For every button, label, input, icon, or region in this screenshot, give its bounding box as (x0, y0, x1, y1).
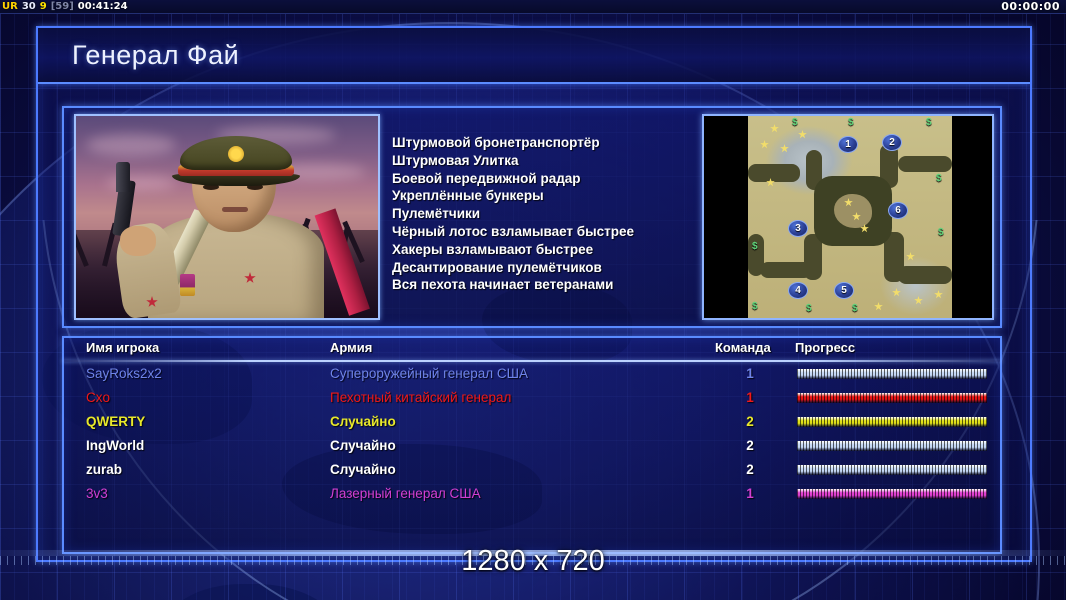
player-army: Случайно (330, 410, 396, 434)
map-start-position-1[interactable]: 1 (838, 136, 858, 153)
player-rows: SayRoks2x2Супероружейный генерал США1Cxo… (62, 362, 1002, 506)
player-name: zurab (86, 458, 122, 482)
hud-player-count: 9 (40, 0, 47, 13)
player-progress (797, 362, 987, 372)
table-row[interactable]: CxoПехотный китайский генерал1 (62, 386, 1002, 410)
player-name: QWERTY (86, 410, 145, 434)
map-start-position-4[interactable]: 4 (788, 282, 808, 299)
minimap[interactable]: $ $ $ $ $ $ $ $ $ 1 2 3 4 5 6 (702, 114, 994, 320)
table-row[interactable]: SayRoks2x2Супероружейный генерал США1 (62, 362, 1002, 386)
ability-item: Вся пехота начинает ветеранами (392, 276, 692, 294)
player-progress (797, 482, 987, 492)
player-team: 1 (735, 386, 765, 410)
column-header-player: Имя игрока (86, 340, 159, 355)
game-lobby-screen: UR 30 9 [59] 00:41:24 00:00:00 Генерал Ф… (0, 0, 1066, 600)
table-row[interactable]: QWERTYСлучайно2 (62, 410, 1002, 434)
player-progress (797, 410, 987, 420)
player-progress (797, 434, 987, 444)
ability-list: Штурмовой бронетранспортёр Штурмовая Ули… (392, 134, 692, 294)
map-start-position-6[interactable]: 6 (888, 202, 908, 219)
table-row[interactable]: IngWorldСлучайно2 (62, 434, 1002, 458)
ability-item: Укреплённые бункеры (392, 187, 692, 205)
player-name: IngWorld (86, 434, 144, 458)
page-title: Генерал Фай (72, 40, 239, 71)
player-progress (797, 458, 987, 468)
general-portrait (74, 114, 380, 320)
player-name: Cxo (86, 386, 110, 410)
ability-item: Боевой передвижной радар (392, 170, 692, 188)
player-army: Супероружейный генерал США (330, 362, 528, 386)
player-team: 2 (735, 410, 765, 434)
table-row[interactable]: zurabСлучайно2 (62, 458, 1002, 482)
title-band: Генерал Фай (38, 28, 1030, 84)
map-start-position-3[interactable]: 3 (788, 220, 808, 237)
player-progress (797, 386, 987, 396)
ability-item: Штурмовая Улитка (392, 152, 692, 170)
player-army: Лазерный генерал США (330, 482, 481, 506)
column-header-army: Армия (330, 340, 372, 355)
player-name: SayRoks2x2 (86, 362, 162, 386)
hud-label: UR (2, 0, 18, 13)
table-row[interactable]: 3v3Лазерный генерал США1 (62, 482, 1002, 506)
hud-bar: UR 30 9 [59] 00:41:24 00:00:00 (0, 0, 1066, 14)
hud-timer: 00:00:00 (1001, 0, 1060, 13)
hud-fps: 30 (22, 0, 36, 13)
player-army: Пехотный китайский генерал (330, 386, 511, 410)
column-header-team: Команда (715, 340, 771, 355)
column-header-progress: Прогресс (795, 340, 855, 355)
hud-elapsed: 00:41:24 (78, 0, 128, 13)
minimap-terrain: $ $ $ $ $ $ $ $ $ 1 2 3 4 5 6 (748, 116, 952, 318)
hud-stats: UR 30 9 [59] 00:41:24 (2, 0, 128, 13)
player-army: Случайно (330, 458, 396, 482)
ability-item: Штурмовой бронетранспортёр (392, 134, 692, 152)
player-army: Случайно (330, 434, 396, 458)
ability-item: Хакеры взламывают быстрее (392, 241, 692, 259)
ability-item: Десантирование пулемётчиков (392, 259, 692, 277)
player-name: 3v3 (86, 482, 108, 506)
player-team: 1 (735, 482, 765, 506)
resolution-caption: 1280 x 720 (0, 545, 1066, 578)
table-header-row: Имя игрока Армия Команда Прогресс (62, 338, 1002, 360)
map-start-position-2[interactable]: 2 (882, 134, 902, 151)
player-team: 1 (735, 362, 765, 386)
hud-player-max: [59] (51, 0, 74, 13)
ability-item: Пулемётчики (392, 205, 692, 223)
map-start-position-5[interactable]: 5 (834, 282, 854, 299)
player-team: 2 (735, 434, 765, 458)
ability-item: Чёрный лотос взламывает быстрее (392, 223, 692, 241)
player-team: 2 (735, 458, 765, 482)
